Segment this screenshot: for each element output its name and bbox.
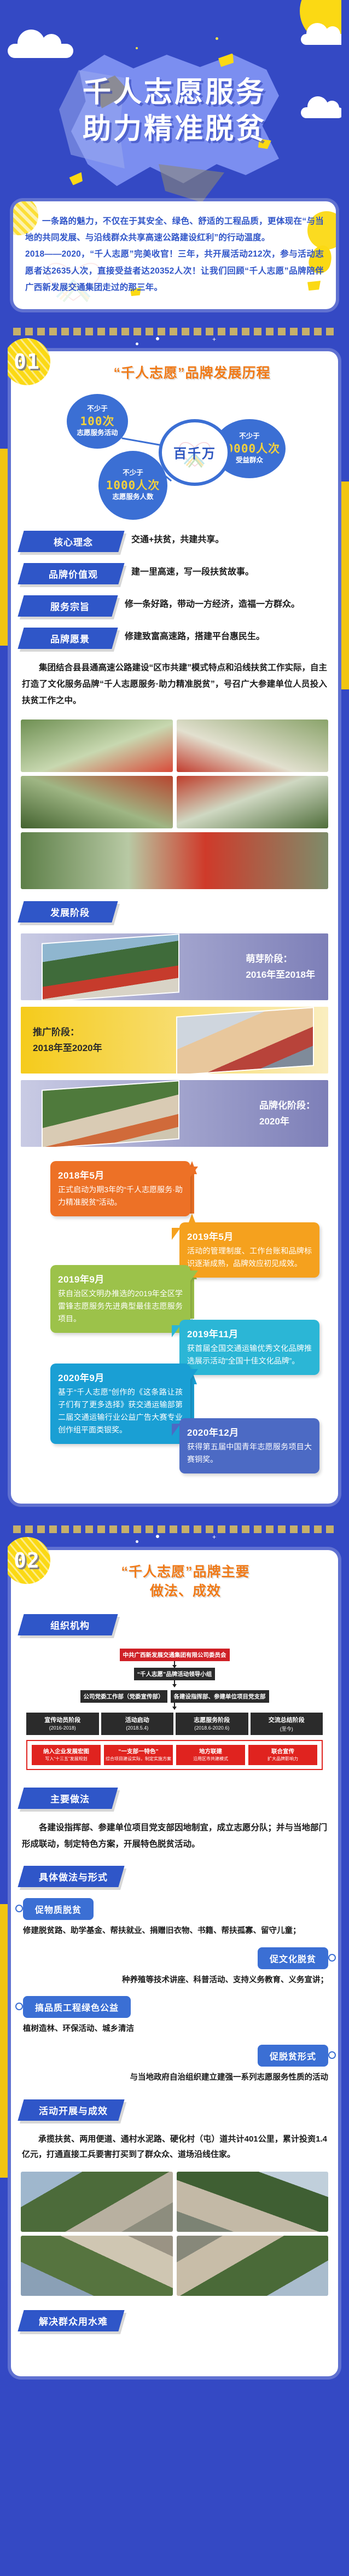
left-rail — [0, 0, 8, 2576]
burst-shape-gray — [159, 164, 224, 202]
stage-branding: 品牌化阶段： 2020年 — [21, 1080, 328, 1147]
form-desc: 种养殖等技术讲座、科普活动、支持义务教育、义务宣讲； — [23, 1969, 328, 1987]
principle-text: 修建致富高速路，搭建平台惠民生。 — [125, 628, 328, 644]
effect-text: 承揽扶贫、两用便道、通村水泥路、硬化村（屯）道共计401公里，累计投资1.4亿元… — [22, 2132, 327, 2163]
form-desc: 修建脱贫路、助学基金、帮扶就业、捐赠旧衣物、书籍、帮扶孤寡、留守儿童； — [23, 1920, 328, 1938]
org-chart: 中共广西新发展交通集团有限公司委员会 “千人志愿”品牌活动领导小组 公司党委工作… — [21, 1646, 328, 1773]
stage-photo — [42, 1080, 179, 1147]
timeline-text: 获得第五届中国青年志愿服务项目大赛铜奖。 — [187, 1441, 312, 1466]
timeline-text: 获自治区文明办推选的2019年全区学雷锋志愿服务先进典型最佳志愿服务项目。 — [58, 1287, 183, 1325]
stage-period: 2020年 — [259, 1113, 315, 1130]
org-box-leading-group: “千人志愿”品牌活动领导小组 — [134, 1668, 216, 1680]
stage-name: 萌芽阶段： — [246, 951, 315, 967]
form-title: 促物质脱贫 — [23, 1898, 94, 1920]
section-01-number: 01 — [14, 350, 40, 374]
timeline-bubble-2020-12: 2020年12月 获得第五届中国青年志愿服务项目大赛铜奖。 — [179, 1418, 319, 1473]
measure-name: 纳入企业发展宏图 — [43, 1748, 89, 1755]
dashed-divider-2 — [13, 1525, 336, 1533]
main-heading-label: 主要做法 — [35, 1791, 105, 1805]
org-connector — [174, 1680, 175, 1687]
branch-knob-icon — [328, 2051, 336, 2059]
diagram-node-volunteers: 不少于 1000人次 志愿服务人数 — [98, 451, 167, 520]
phase-name: 活动启动 — [125, 1717, 149, 1724]
main-heading-row: 主要做法 — [21, 1788, 328, 1809]
dashed-divider — [13, 328, 336, 335]
principle-row: 品牌愿景 修建致富高速路，搭建平台惠民生。 — [21, 628, 328, 649]
timeline-bubble-2019-11: 2019年11月 获首届全国交通运输优秀文化品牌推选展示活动“全国十佳文化品牌”… — [179, 1320, 319, 1375]
intro-paragraph-2: 2018——2020，“千人志愿”完美收官！三年，共开展活动212次，参与活动志… — [25, 246, 324, 296]
stage-promotion: 推广阶段： 2018年至2020年 — [21, 1007, 328, 1074]
form-desc: 与当地政府自治组织建立建强一系列志愿服务性质的活动 — [23, 2067, 328, 2085]
hero-title-line2: 助力精准脱贫 — [0, 112, 349, 147]
section-01-badge: 01 — [3, 338, 50, 385]
timeline-bubble-2019-05: 2019年5月 活动的管理制度、工作台账和品牌标识逐渐成熟，品牌效应初见成效。 — [179, 1222, 319, 1278]
section-02: 02 “千人志愿”品牌主要 做法、成效 组织机构 中共广西新发展交通集团有限公司… — [11, 1550, 338, 2376]
stage-text: 萌芽阶段： 2016年至2018年 — [246, 951, 315, 984]
org-measure-local-cooperation: 地方联建 沿用区市共建模式 — [176, 1745, 245, 1765]
org-measure-joint-promotion: 联合宣传 扩大品牌影响力 — [248, 1745, 317, 1765]
dot-row-decoration-2: + — [0, 1533, 349, 1547]
node-label: 受益群众 — [236, 456, 263, 466]
diagram-link — [121, 437, 162, 446]
dot-row-decoration: + — [0, 335, 349, 349]
brand-goal-diagram: 不少于 100次 志愿服务活动 不少于 10000人次 受益群众 不少于 100… — [21, 391, 328, 527]
section-01: 01 “千人志愿”品牌发展历程 不少于 100次 志愿服务活动 不少于 1000… — [11, 351, 338, 1503]
org-connector — [174, 1661, 175, 1668]
org-phase-summary: 交流总结阶段 (至今) — [251, 1713, 323, 1735]
intro-card: 一条路的魅力，不仅在于其安全、绿色、舒适的工程品质，更体现在“与当地的共同发展、… — [13, 201, 336, 309]
photo-volunteers-2 — [177, 720, 329, 772]
org-box-project-branches: 各建设指挥部、参建单位项目党支部 — [171, 1690, 269, 1703]
form-desc: 植树造林、环保活动、城乡清洁 — [23, 2018, 328, 2036]
photo-volunteers-banner — [21, 832, 328, 889]
stage-heading-row: 发展阶段 — [21, 901, 328, 923]
section-01-card: “千人志愿”品牌发展历程 不少于 100次 志愿服务活动 不少于 10000人次… — [11, 351, 338, 1503]
form-branch-poverty: 促脱贫形式 与当地政府自治组织建立建强一系列志愿服务性质的活动 — [23, 2045, 328, 2085]
org-phase-service: 志愿服务阶段 (2018.6-2020.6) — [176, 1713, 248, 1735]
stage-photo — [176, 1007, 314, 1074]
photo-grid — [21, 720, 328, 889]
node-label: 志愿服务人数 — [112, 492, 153, 502]
org-row-departments: 公司党委工作部（党委宣传部） 各建设指挥部、参建单位项目党支部 — [21, 1690, 328, 1703]
org-connector — [174, 1703, 175, 1709]
org-row-phases: 宣传动员阶段 (2016-2018) 活动启动 (2018.5.4) 志愿服务阶… — [26, 1713, 323, 1735]
effect-heading-row: 活动开展与成效 — [21, 2099, 328, 2121]
timeline-bubble-2019-09: 2019年9月 获自治区文明办推选的2019年全区学雷锋志愿服务先进典型最佳志愿… — [50, 1265, 190, 1333]
principle-tag: 品牌价值观 — [18, 563, 124, 584]
org-measures-box: 纳入企业发展宏图 写入“十三五”发展规划 “一支部一特色” 综合项目建设实际，制… — [26, 1740, 323, 1770]
hero-banner: 千人志愿服务 助力精准脱贫 — [0, 0, 349, 207]
form-title: 搞品质工程绿色公益 — [23, 1996, 131, 2018]
infographic-page: 千人志愿服务 助力精准脱贫 一条路的魅力，不仅在于其安全、绿色、舒适的工程品质，… — [0, 0, 349, 2576]
photo-volunteers-4 — [177, 776, 329, 828]
org-phase-launch: 活动启动 (2018.5.4) — [101, 1713, 174, 1735]
section-02-number: 02 — [14, 1548, 40, 1573]
confetti-icon — [69, 172, 84, 186]
stage-period: 2016年至2018年 — [246, 967, 315, 983]
principle-tag-label: 核心理念 — [35, 535, 112, 548]
intro-section: 一条路的魅力，不仅在于其安全、绿色、舒适的工程品质，更体现在“与当地的共同发展、… — [0, 201, 349, 309]
phase-name: 志愿服务阶段 — [194, 1717, 230, 1724]
form-title: 促脱贫形式 — [258, 2045, 328, 2067]
main-heading-tag: 主要做法 — [18, 1788, 118, 1809]
timeline-text: 正式启动为期3年的“千人志愿服务·助力精准脱贫”活动。 — [58, 1183, 183, 1209]
timeline-bubble-2020-09: 2020年9月 基于“千人志愿”创作的《这条路让孩子们有了更多选择》获交通运输部… — [50, 1364, 190, 1444]
form-branch-material: 促物质脱贫 修建脱贫路、助学基金、帮扶就业、捐赠旧衣物、书籍、帮扶孤寡、留守儿童… — [23, 1898, 328, 1938]
section-02-badge: 02 — [3, 1537, 50, 1584]
hero-title: 千人志愿服务 助力精准脱贫 — [0, 76, 349, 147]
diagram-center-node: 百千万 — [159, 419, 231, 486]
dot-decoration — [136, 47, 138, 49]
timeline-date: 2018年5月 — [58, 1168, 183, 1181]
forms-heading-label: 具体做法与形式 — [35, 1870, 112, 1883]
stage-name: 推广阶段： — [33, 1024, 102, 1041]
brand-timeline: 2018年5月 正式启动为期3年的“千人志愿服务·助力精准脱贫”活动。 2019… — [21, 1161, 328, 1489]
form-title: 促文化脱贫 — [258, 1947, 328, 1969]
diagram-node-activities: 不少于 100次 志愿服务活动 — [67, 394, 128, 449]
form-branch-green: 搞品质工程绿色公益 植树造林、环保活动、城乡清洁 — [23, 1996, 328, 2036]
principle-row: 品牌价值观 建一里高速，写一段扶贫故事。 — [21, 563, 328, 584]
section-01-paragraph: 集团结合县县通高速公路建设“区市共建”模式特点和沿线扶贫工作实际，自主打造了文化… — [22, 660, 327, 710]
measure-name: 地方联建 — [199, 1748, 222, 1755]
node-label: 志愿服务活动 — [77, 428, 118, 438]
principle-tag: 服务宗旨 — [18, 595, 118, 617]
principle-text: 建一里高速，写一段扶贫故事。 — [131, 563, 328, 579]
photo-road-4 — [177, 2236, 329, 2296]
cloud-icon — [8, 44, 73, 58]
dot-decoration — [216, 37, 218, 40]
measure-sub: 沿用区市共建模式 — [178, 1756, 243, 1762]
water-heading-row: 解决群众用水难 — [21, 2310, 328, 2331]
timeline-date: 2020年9月 — [58, 1370, 183, 1384]
branch-knob-icon — [15, 1905, 23, 1912]
org-box-party-committee: 中共广西新发展交通集团有限公司委员会 — [120, 1649, 230, 1661]
photo-volunteers-3 — [21, 776, 173, 828]
timeline-text: 获首届全国交通运输优秀文化品牌推选展示活动“全国十佳文化品牌”。 — [187, 1342, 312, 1367]
right-rail — [341, 0, 349, 2576]
principle-text: 修一条好路，带动一方经济，造福一方群众。 — [125, 595, 328, 612]
brand-principle-list: 核心理念 交通+扶贫，共建共享。 品牌价值观 建一里高速，写一段扶贫故事。 服务… — [21, 531, 328, 649]
section-02-title-line1: “千人志愿”品牌主要 — [43, 1563, 328, 1582]
measure-sub: 扩大品牌影响力 — [250, 1756, 316, 1762]
timeline-text: 活动的管理制度、工作台账和品牌标识逐渐成熟，品牌效应初见成效。 — [187, 1245, 312, 1270]
stage-heading-label: 发展阶段 — [35, 905, 105, 919]
timeline-bubble-2018-05: 2018年5月 正式启动为期3年的“千人志愿服务·助力精准脱贫”活动。 — [50, 1161, 190, 1216]
branch-knob-icon — [15, 2003, 23, 2010]
section-02-card: “千人志愿”品牌主要 做法、成效 组织机构 中共广西新发展交通集团有限公司委员会… — [11, 1550, 338, 2376]
node-prefix: 不少于 — [87, 404, 108, 414]
phase-name: 宣传动员阶段 — [44, 1717, 80, 1724]
phase-period: (2018.5.4) — [103, 1725, 172, 1731]
photo-road-1 — [21, 2172, 173, 2232]
principle-row: 服务宗旨 修一条好路，带动一方经济，造福一方群众。 — [21, 595, 328, 617]
principle-tag: 品牌愿景 — [18, 628, 118, 649]
principle-tag: 核心理念 — [18, 531, 124, 552]
effect-heading-tag: 活动开展与成效 — [18, 2099, 124, 2121]
photo-road-2 — [177, 2172, 329, 2232]
stage-sprout: 萌芽阶段： 2016年至2018年 — [21, 933, 328, 1000]
branch-knob-icon — [328, 1954, 336, 1962]
timeline-date: 2019年11月 — [187, 1326, 312, 1340]
phase-period: (至今) — [253, 1725, 321, 1732]
principle-text: 交通+扶贫，共建共享。 — [131, 531, 328, 547]
cloud-icon — [301, 34, 347, 45]
stage-photo — [42, 933, 179, 1000]
principle-tag-label: 品牌愿景 — [35, 631, 105, 645]
measure-sub: 写入“十三五”发展规划 — [33, 1756, 99, 1762]
org-measure-branch-feature: “一支部一特色” 综合项目建设实际，制定实施方案 — [104, 1745, 173, 1765]
hero-title-line1: 千人志愿服务 — [0, 76, 349, 110]
org-box-propaganda-dept: 公司党委工作部（党委宣传部） — [80, 1690, 167, 1703]
org-phase-mobilization: 宣传动员阶段 (2016-2018) — [26, 1713, 99, 1735]
stage-text: 推广阶段： 2018年至2020年 — [33, 1024, 102, 1057]
stage-text: 品牌化阶段： 2020年 — [259, 1098, 315, 1130]
phase-name: 交流总结阶段 — [269, 1717, 305, 1724]
photo-volunteers-1 — [21, 720, 173, 772]
node-prefix: 不少于 — [123, 468, 143, 478]
main-practice-text: 各建设指挥部、参建单位项目党支部因地制宜，成立志愿分队；并与当地部门形成联动，制… — [22, 1820, 327, 1853]
timeline-date: 2019年5月 — [187, 1229, 312, 1243]
org-heading-label: 组织机构 — [35, 1618, 105, 1632]
effect-photo-grid — [21, 2172, 328, 2296]
org-heading-row: 组织机构 — [21, 1614, 328, 1635]
org-heading-tag: 组织机构 — [18, 1614, 118, 1635]
node-value: 100次 — [80, 414, 115, 428]
section-02-title-line2: 做法、成效 — [43, 1582, 328, 1601]
principle-row: 核心理念 交通+扶贫，共建共享。 — [21, 531, 328, 552]
stage-heading-tag: 发展阶段 — [18, 901, 118, 923]
timeline-date: 2020年12月 — [187, 1425, 312, 1438]
forms-branches: 促物质脱贫 修建脱贫路、助学基金、帮扶就业、捐赠旧衣物、书籍、帮扶孤寡、留守儿童… — [21, 1898, 328, 2085]
forms-heading-row: 具体做法与形式 — [21, 1866, 328, 1887]
measure-name: 联合宣传 — [271, 1748, 294, 1755]
stage-period: 2018年至2020年 — [33, 1040, 102, 1057]
stage-name: 品牌化阶段： — [259, 1098, 315, 1114]
effect-heading-label: 活动开展与成效 — [35, 2103, 112, 2117]
form-branch-culture: 促文化脱贫 种养殖等技术讲座、科普活动、支持义务教育、义务宣讲； — [23, 1947, 328, 1987]
intro-paragraph-1: 一条路的魅力，不仅在于其安全、绿色、舒适的工程品质，更体现在“与当地的共同发展、… — [25, 213, 324, 246]
timeline-text: 基于“千人志愿”创作的《这条路让孩子们有了更多选择》获交通运输部第二届交通运输行… — [58, 1386, 183, 1436]
section-01-title: “千人志愿”品牌发展历程 — [56, 364, 328, 383]
measure-sub: 综合项目建设实际，制定实施方案 — [106, 1756, 171, 1762]
diagram-center-label: 百千万 — [173, 443, 216, 462]
timeline-date: 2019年9月 — [58, 1272, 183, 1285]
forms-heading-tag: 具体做法与形式 — [18, 1866, 124, 1887]
water-heading-label: 解决群众用水难 — [35, 2314, 112, 2328]
phase-period: (2018.6-2020.6) — [178, 1725, 246, 1731]
measure-name: “一支部一特色” — [118, 1748, 159, 1755]
photo-road-3 — [21, 2236, 173, 2296]
principle-tag-label: 品牌价值观 — [35, 567, 112, 581]
principle-tag-label: 服务宗旨 — [35, 599, 105, 613]
node-value: 1000人次 — [106, 478, 160, 492]
phase-period: (2016-2018) — [28, 1725, 97, 1731]
org-measure-development-plan: 纳入企业发展宏图 写入“十三五”发展规划 — [32, 1745, 101, 1765]
water-heading-tag: 解决群众用水难 — [18, 2310, 124, 2331]
node-prefix: 不少于 — [239, 432, 260, 442]
